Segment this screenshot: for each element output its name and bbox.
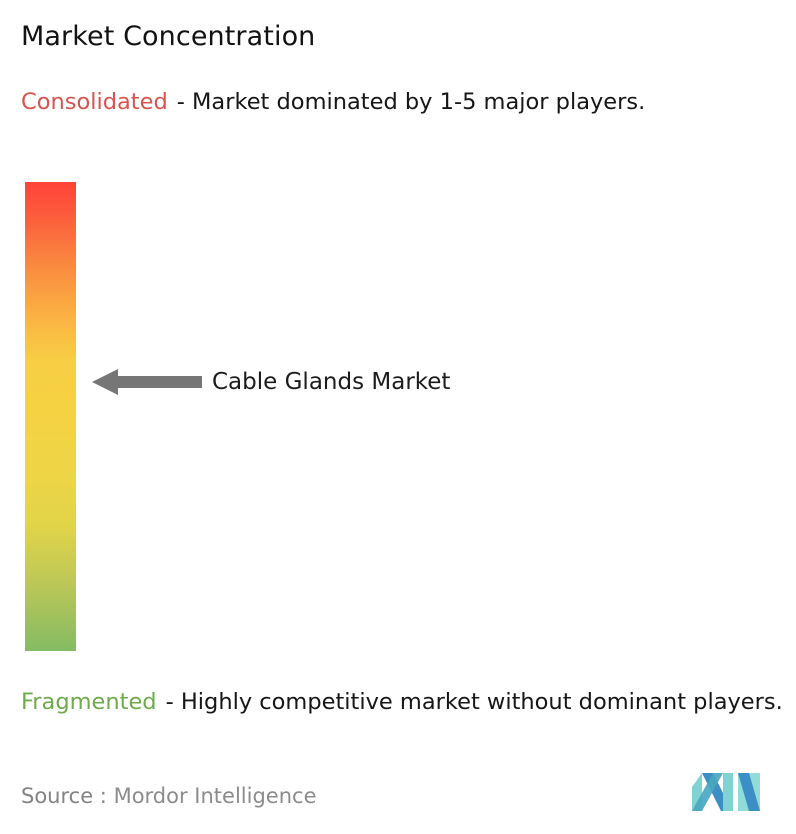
left-arrow-icon: [92, 364, 202, 400]
definition-fragmented: Fragmented- Highly competitive market wi…: [21, 686, 791, 718]
definition-consolidated: Consolidated- Market dominated by 1-5 ma…: [21, 86, 777, 118]
source-value: Mordor Intelligence: [114, 784, 317, 808]
definition-text-fragmented: - Highly competitive market without domi…: [166, 689, 783, 715]
source-line: Source : Mordor Intelligence: [21, 782, 316, 810]
market-marker-label: Cable Glands Market: [212, 368, 450, 396]
concentration-gradient-bar: [25, 182, 76, 651]
definition-term-fragmented: Fragmented: [21, 689, 157, 715]
market-marker-annotation: Cable Glands Market: [92, 364, 450, 400]
source-label: Source :: [21, 784, 107, 808]
definition-text-consolidated: - Market dominated by 1-5 major players.: [177, 89, 646, 115]
market-concentration-infographic: Market Concentration Consolidated- Marke…: [0, 0, 796, 834]
mordor-intelligence-logo-icon: [692, 771, 760, 813]
definition-term-consolidated: Consolidated: [21, 89, 168, 115]
page-title: Market Concentration: [21, 20, 315, 54]
